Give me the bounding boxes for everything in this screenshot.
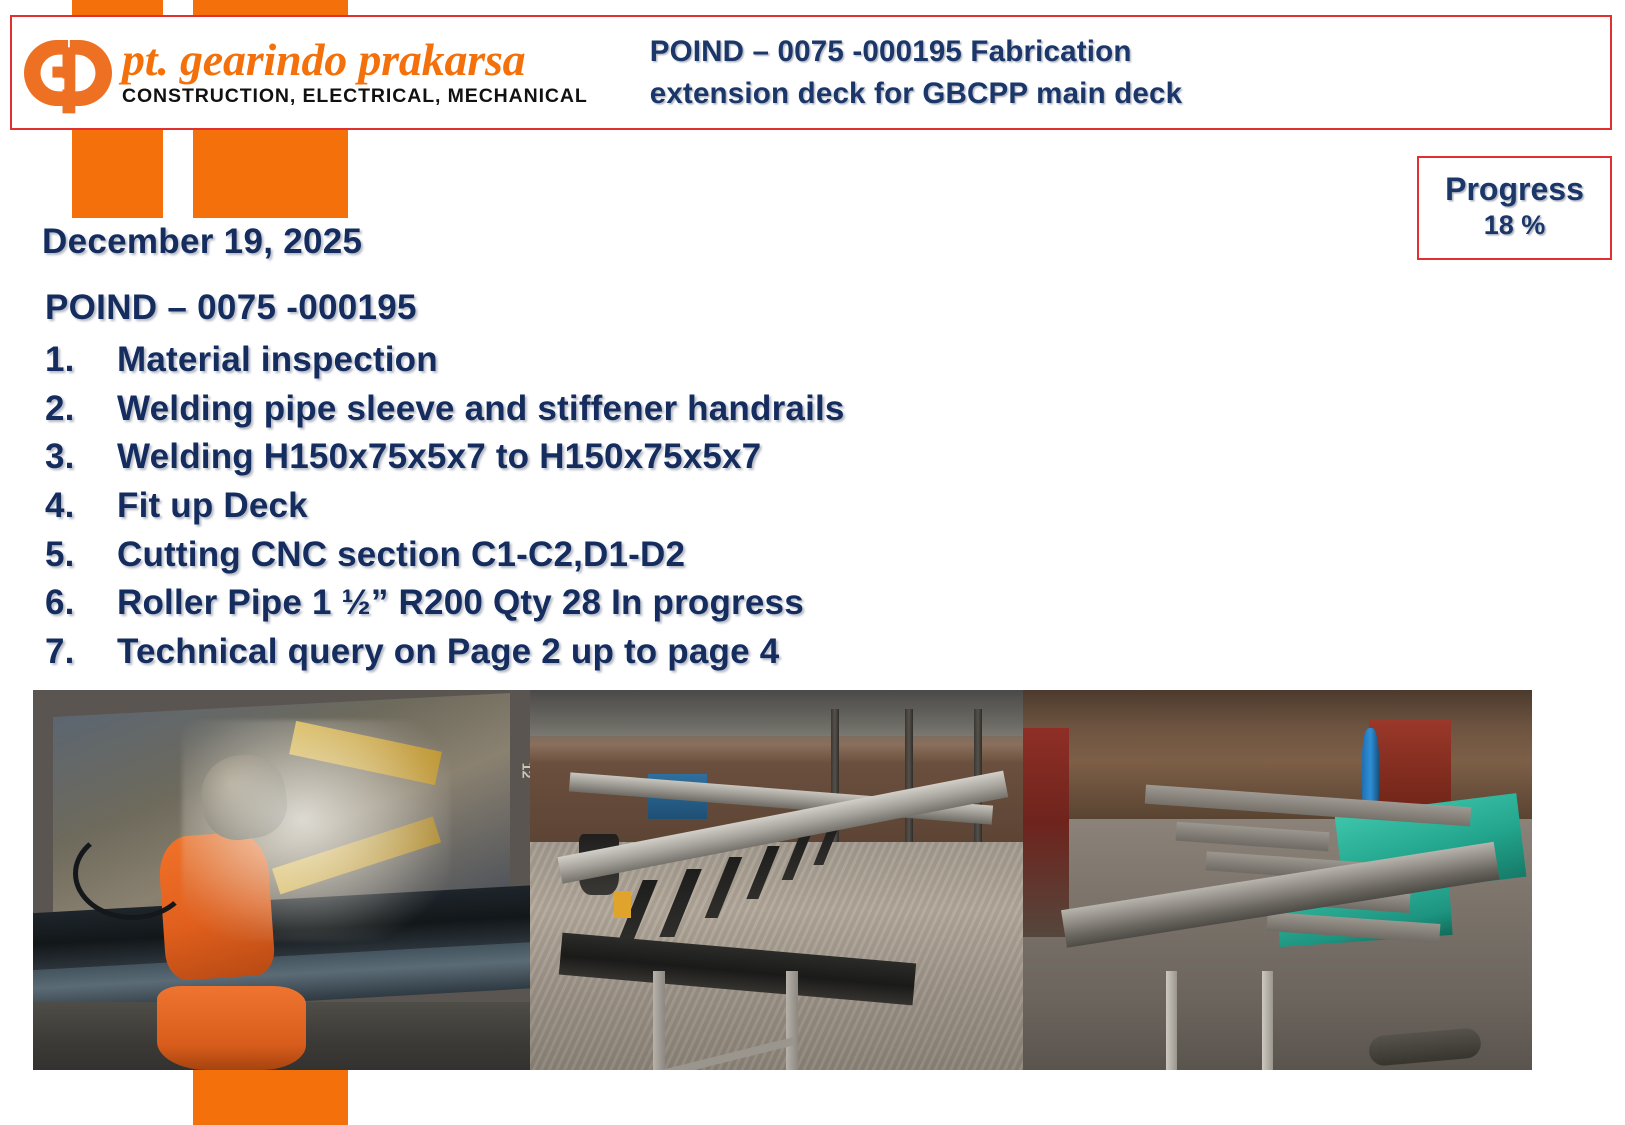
list-item: 7. Technical query on Page 2 up to page …: [40, 628, 1380, 677]
company-logo-lockup: pt. gearindo prakarsa CONSTRUCTION, ELEC…: [22, 29, 588, 117]
task-number: 1.: [45, 336, 117, 385]
report-body: December 19, 2025 POIND – 0075 -000195 1…: [40, 222, 1380, 676]
logo-text-block: pt. gearindo prakarsa CONSTRUCTION, ELEC…: [122, 37, 588, 108]
gp-monogram-logo-icon: [22, 29, 114, 117]
task-number: 4.: [45, 482, 117, 531]
progress-photo-strip: 12: [33, 690, 1532, 1070]
company-tagline: CONSTRUCTION, ELECTRICAL, MECHANICAL: [122, 84, 588, 108]
task-number: 7.: [45, 628, 117, 677]
list-item: 5. Cutting CNC section C1-C2,D1-D2: [40, 531, 1380, 580]
task-text: Fit up Deck: [117, 482, 1380, 531]
photo-welding-beam: 12: [33, 690, 530, 1070]
progress-value: 18 %: [1484, 207, 1546, 243]
header-banner: pt. gearindo prakarsa CONSTRUCTION, ELEC…: [10, 15, 1612, 130]
task-text: Material inspection: [117, 336, 1380, 385]
decorative-orange-bar-bottom: [193, 1068, 348, 1125]
list-item: 6. Roller Pipe 1 ½” R200 Qty 28 In progr…: [40, 579, 1380, 628]
chalk-marking-text: 12: [406, 763, 530, 823]
progress-badge: Progress 18 %: [1417, 156, 1612, 260]
task-number: 6.: [45, 579, 117, 628]
list-item: 2. Welding pipe sleeve and stiffener han…: [40, 385, 1380, 434]
project-title: POIND – 0075 -000195 Fabrication extensi…: [650, 31, 1183, 115]
task-text: Technical query on Page 2 up to page 4: [117, 628, 1380, 677]
task-number: 2.: [45, 385, 117, 434]
task-text: Welding pipe sleeve and stiffener handra…: [117, 385, 1380, 434]
progress-label: Progress: [1445, 173, 1584, 207]
list-item: 3. Welding H150x75x5x7 to H150x75x5x7: [40, 433, 1380, 482]
poind-heading: POIND – 0075 -000195: [45, 288, 1380, 328]
company-wordmark: pt. gearindo prakarsa: [122, 37, 588, 84]
task-text: Cutting CNC section C1-C2,D1-D2: [117, 531, 1380, 580]
task-number: 3.: [45, 433, 117, 482]
list-item: 4. Fit up Deck: [40, 482, 1380, 531]
project-title-line-2: extension deck for GBCPP main deck: [650, 73, 1183, 115]
list-item: 1. Material inspection: [40, 336, 1380, 385]
task-list: 1. Material inspection 2. Welding pipe s…: [40, 336, 1380, 676]
photo-beam-frame-cutting-station: [1023, 690, 1532, 1070]
project-title-line-1: POIND – 0075 -000195 Fabrication: [650, 31, 1183, 73]
task-text: Welding H150x75x5x7 to H150x75x5x7: [117, 433, 1380, 482]
task-text: Roller Pipe 1 ½” R200 Qty 28 In progress: [117, 579, 1380, 628]
report-date: December 19, 2025: [42, 222, 1380, 262]
photo-workshop-truss-assembly: [530, 690, 1023, 1070]
task-number: 5.: [45, 531, 117, 580]
